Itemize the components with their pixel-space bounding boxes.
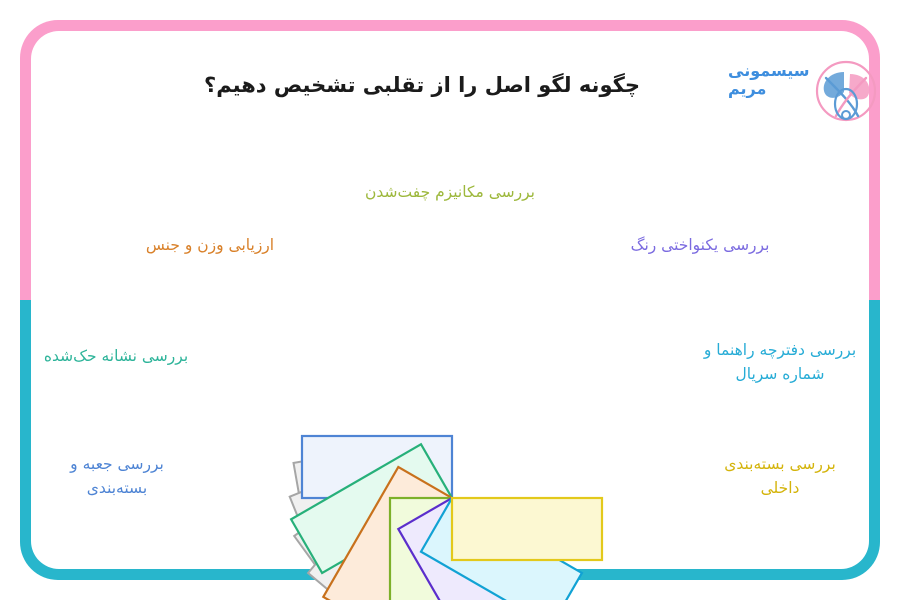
fan-label-3: ارزیابی وزن و جنس xyxy=(112,233,308,257)
fan-label-1: بررسی جعبه و بسته‌بندی xyxy=(28,452,206,500)
fan-card-7[interactable] xyxy=(452,498,602,560)
fan-label-6: بررسی دفترچه راهنما و شماره سریال xyxy=(676,338,884,386)
fan-label-4: بررسی مکانیزم چفت‌شدن xyxy=(320,180,580,204)
fan-label-5: بررسی یکنواختی رنگ xyxy=(596,233,804,257)
fan-label-7: بررسی بسته‌بندی داخلی xyxy=(690,452,870,500)
fan-diagram xyxy=(0,0,900,600)
infographic-canvas: چگونه لگو اصل را از تقلبی تشخیص دهیم؟ سی… xyxy=(0,0,900,600)
fan-label-2: بررسی نشانه حک‌شده xyxy=(16,344,216,368)
fan-colour-cards xyxy=(291,436,602,600)
